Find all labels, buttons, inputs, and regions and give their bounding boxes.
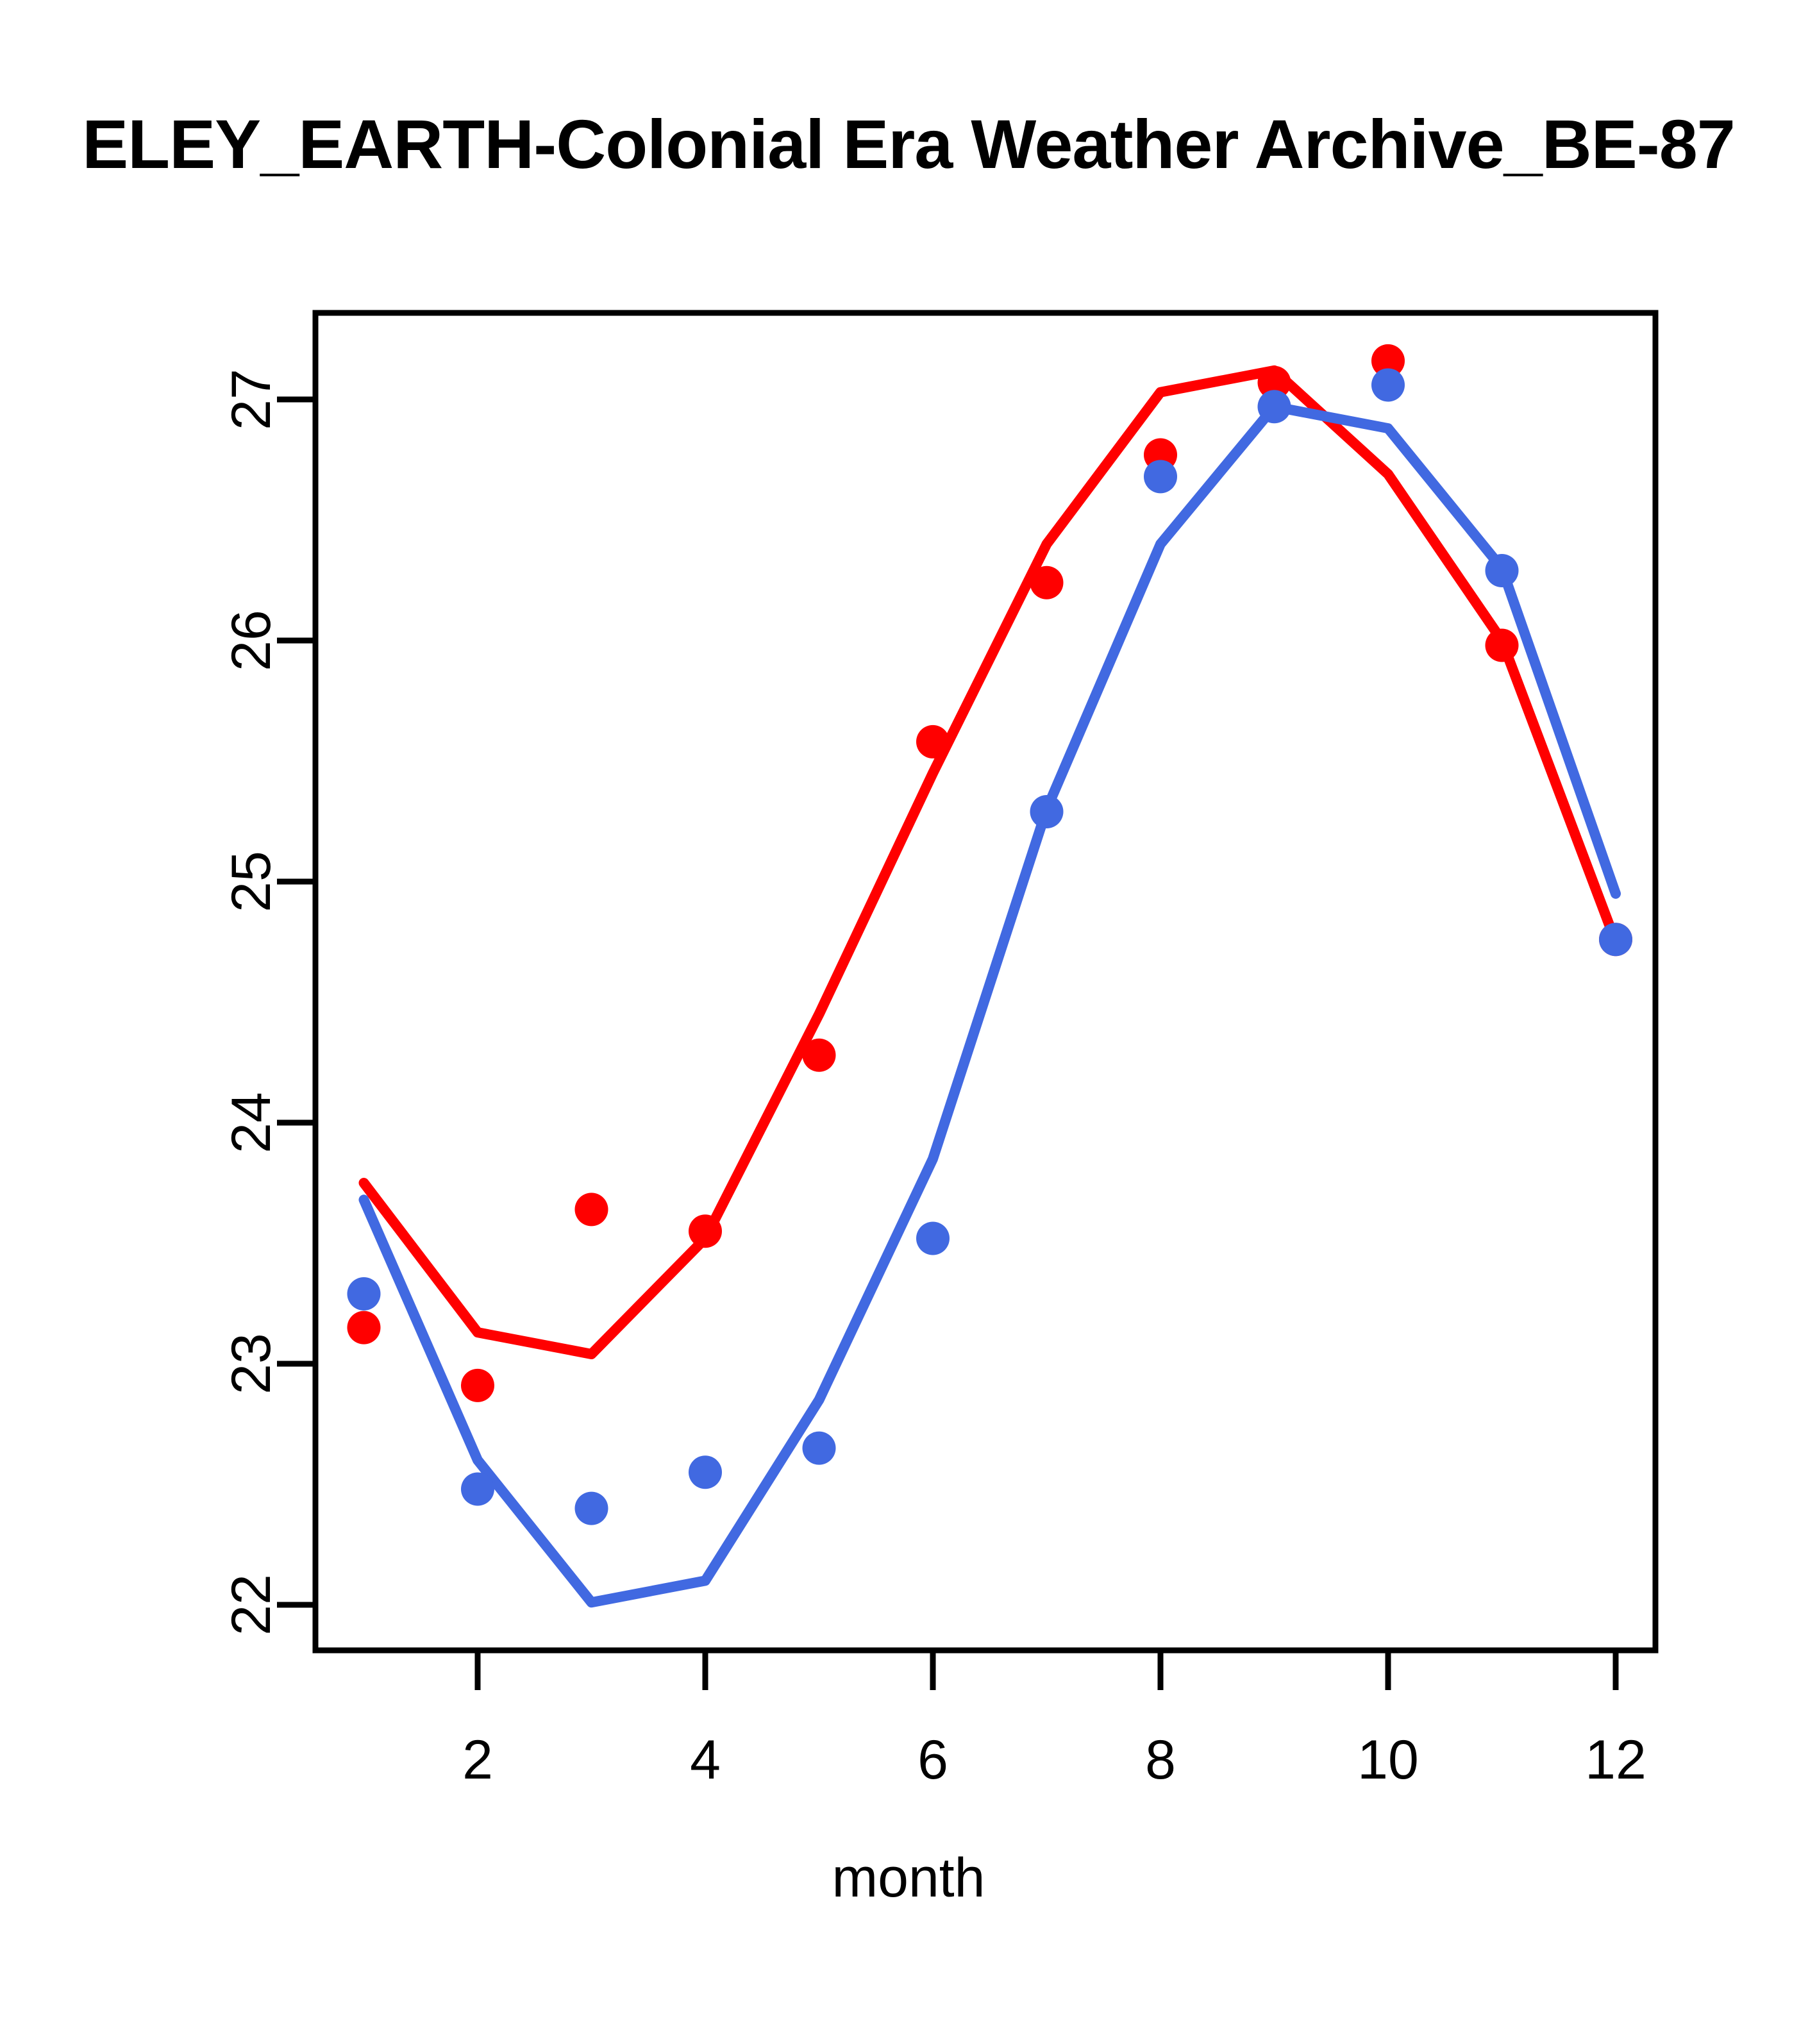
data-point-red-points	[803, 1039, 836, 1072]
data-point-red-points	[1030, 566, 1064, 599]
data-point-blue-points	[689, 1455, 722, 1489]
y-tick-label: 26	[221, 610, 282, 671]
data-point-red-points	[689, 1214, 722, 1248]
series-group	[347, 344, 1633, 1602]
data-point-red-points	[575, 1193, 608, 1226]
data-point-blue-points	[575, 1492, 608, 1525]
data-point-blue-points	[1371, 368, 1405, 401]
y-tick-label: 23	[221, 1333, 282, 1395]
data-point-blue-points	[347, 1277, 381, 1311]
x-tick-label: 6	[917, 1729, 948, 1791]
data-point-blue-points	[1599, 923, 1632, 956]
x-tick-label: 4	[690, 1729, 721, 1791]
y-tick-label: 27	[221, 369, 282, 430]
x-tick-label: 12	[1585, 1729, 1646, 1791]
y-tick-label: 24	[221, 1092, 282, 1153]
data-point-blue-points	[1486, 554, 1519, 587]
data-point-red-points	[916, 725, 950, 758]
chart-figure: ELEY_EARTH-Colonial Era Weather Archive_…	[0, 0, 1817, 2044]
data-point-blue-points	[1258, 390, 1291, 423]
x-tick-label: 2	[462, 1729, 493, 1791]
data-point-blue-points	[916, 1221, 950, 1255]
x-tick-label: 10	[1357, 1729, 1419, 1791]
plot-area: 22232425262724681012	[0, 0, 1817, 2044]
data-point-red-points	[461, 1369, 494, 1402]
data-point-blue-points	[1144, 460, 1177, 493]
data-point-red-points	[347, 1311, 381, 1345]
series-line-blue-line	[364, 406, 1616, 1602]
tick-labels-group: 22232425262724681012	[221, 369, 1646, 1791]
y-tick-label: 22	[221, 1574, 282, 1636]
data-point-blue-points	[461, 1473, 494, 1506]
data-point-blue-points	[803, 1432, 836, 1465]
series-line-red-line	[364, 371, 1616, 1354]
data-point-blue-points	[1030, 795, 1064, 828]
y-tick-label: 25	[221, 851, 282, 912]
data-point-red-points	[1486, 629, 1519, 662]
x-tick-label: 8	[1145, 1729, 1176, 1791]
x-axis-label: month	[0, 1847, 1817, 1910]
